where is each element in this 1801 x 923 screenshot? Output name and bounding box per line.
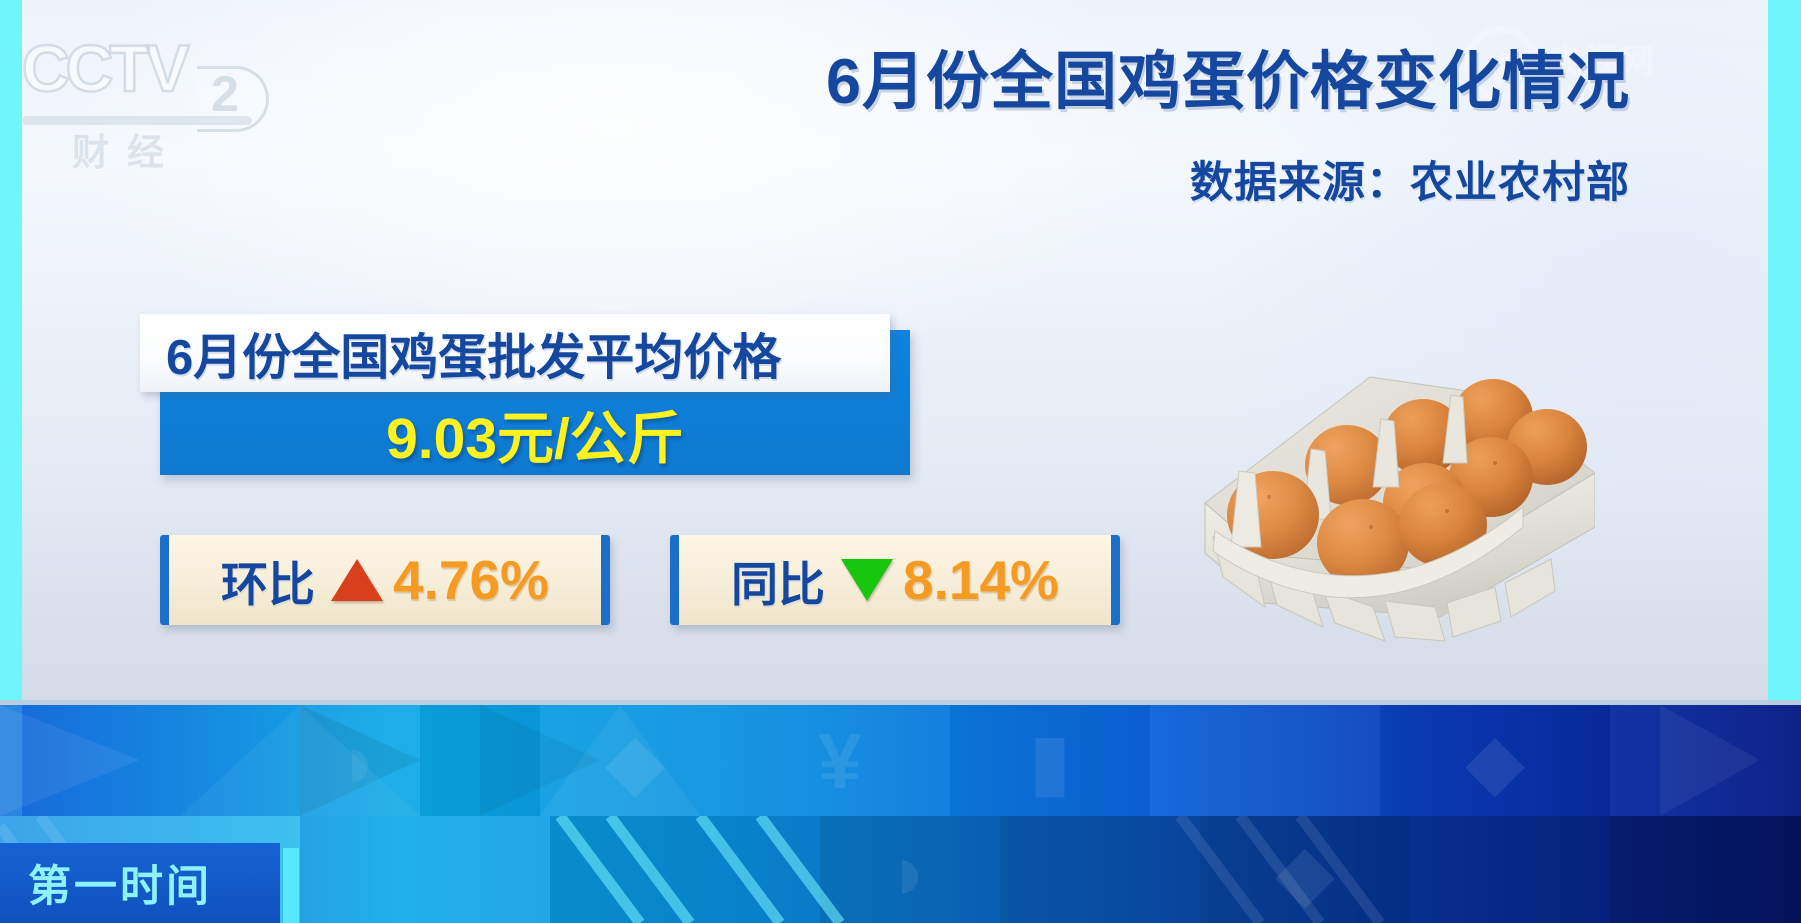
stat-label-mom: 环比 xyxy=(221,546,315,615)
stat-box-month-on-month: 环比 4.76% xyxy=(160,535,610,625)
left-cyan-strip xyxy=(0,0,22,700)
stat-value-mom: 4.76% xyxy=(393,548,549,612)
price-panel: 6月份全国鸡蛋批发平均价格 9.03元/公斤 xyxy=(160,330,910,475)
stat-label-yoy: 同比 xyxy=(731,546,825,615)
egg-carton-svg xyxy=(1195,355,1595,645)
stat-box-year-on-year: 同比 8.14% xyxy=(670,535,1120,625)
stat-value-yoy: 8.14% xyxy=(903,548,1059,612)
footer-triangle-facets xyxy=(0,705,1801,816)
data-source-label: 数据来源：农业农村部 xyxy=(700,148,1630,210)
program-name-tag: 第一时间 xyxy=(0,843,280,923)
page-title: 6月份全国鸡蛋价格变化情况 xyxy=(700,48,1630,116)
price-value-text: 9.03元/公斤 xyxy=(160,398,910,470)
right-cyan-strip xyxy=(1768,0,1801,700)
triangle-up-icon xyxy=(331,559,383,601)
broadcast-graphic: CCTV 2 财经 央视网 com 6月份全国鸡蛋价格变化情况 数据来源：农业农… xyxy=(0,0,1801,923)
egg-carton-image xyxy=(1195,355,1595,645)
program-tag-accent xyxy=(283,848,299,923)
triangle-down-icon xyxy=(841,559,893,601)
price-label-bar: 6月份全国鸡蛋批发平均价格 xyxy=(140,314,890,392)
program-name-text: 第一时间 xyxy=(0,852,212,914)
price-label-text: 6月份全国鸡蛋批发平均价格 xyxy=(140,318,781,389)
